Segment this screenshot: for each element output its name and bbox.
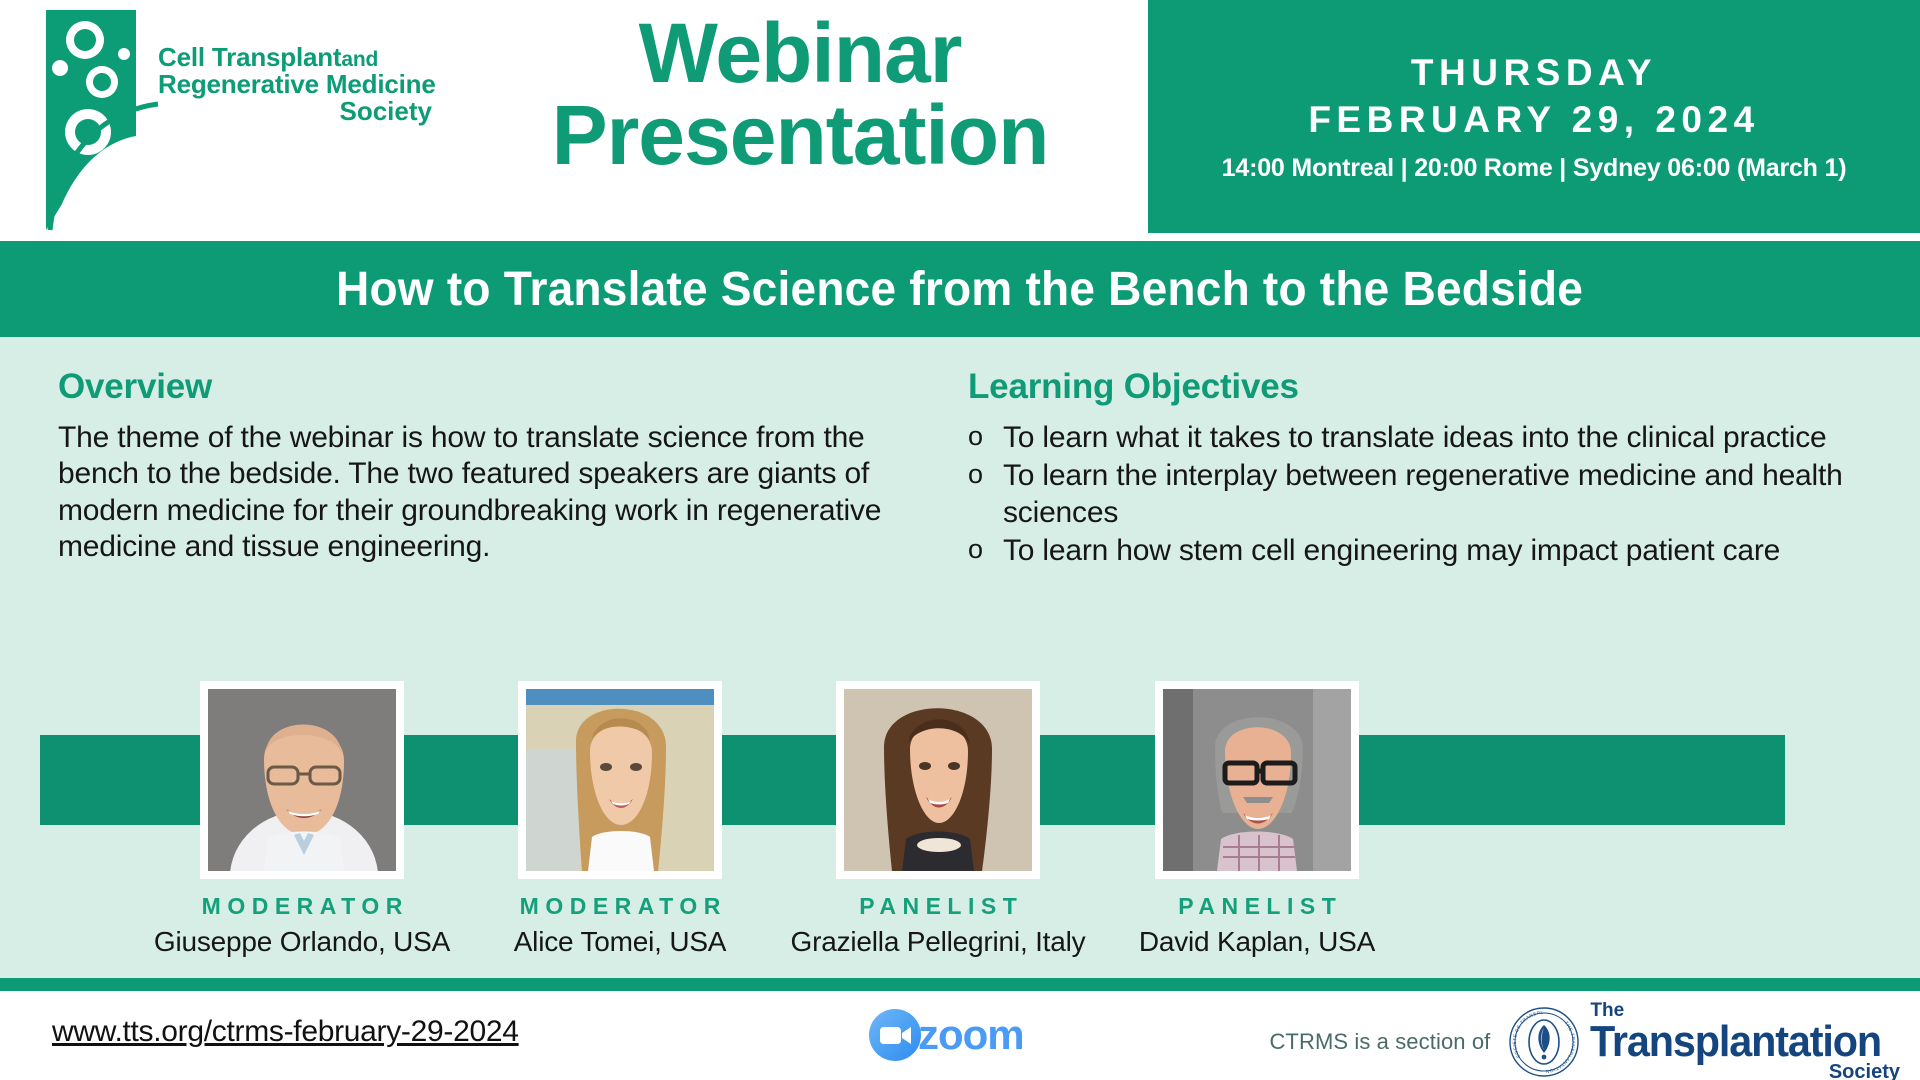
webinar-heading-line2: Presentation <box>470 94 1130 176</box>
content-section: Overview The theme of the webinar is how… <box>0 337 1920 978</box>
logo-line1-main: Cell Transplant <box>158 42 341 72</box>
speaker-name: David Kaplan, USA <box>1097 926 1417 958</box>
page-title: How to Translate Science from the Bench … <box>336 262 1583 317</box>
speaker-name: Graziella Pellegrini, Italy <box>778 926 1098 958</box>
speaker-role: MODERATOR <box>460 893 780 920</box>
tts-affiliation: CTRMS is a section of SOCIETE DE TRANSPL… <box>1269 1001 1900 1080</box>
registration-url[interactable]: www.tts.org/ctrms-february-29-2024 <box>52 1015 519 1049</box>
ctrms-cell-logo-icon <box>40 8 160 233</box>
date-block: THURSDAY FEBRUARY 29, 2024 14:00 Montrea… <box>1148 0 1920 233</box>
tts-main: Transplantation <box>1590 1020 1881 1064</box>
footer: www.tts.org/ctrms-february-29-2024 zoom … <box>0 991 1920 1080</box>
footer-divider <box>0 978 1920 991</box>
speaker-card: MODERATOR Alice Tomei, USA <box>460 681 780 958</box>
logo-line3: Society <box>158 98 478 125</box>
webinar-heading: Webinar Presentation <box>470 12 1130 177</box>
zoom-logo: zoom <box>868 1007 1068 1063</box>
ctrms-logo-text: Cell Transplantand Regenerative Medicine… <box>158 44 478 125</box>
title-banner: How to Translate Science from the Bench … <box>0 241 1920 337</box>
photo-graziella-pellegrini <box>844 689 1032 871</box>
logo-line1-small: and <box>341 48 378 71</box>
speaker-role: PANELIST <box>778 893 1098 920</box>
header: Cell Transplantand Regenerative Medicine… <box>0 0 1920 233</box>
logo-line2: Regenerative Medicine <box>158 71 478 98</box>
speaker-card: PANELIST David Kaplan, USA <box>1097 681 1417 958</box>
date-timezones: 14:00 Montreal | 20:00 Rome | Sydney 06:… <box>1222 154 1847 183</box>
webinar-flyer: Cell Transplantand Regenerative Medicine… <box>0 0 1920 1080</box>
tts-seal-icon: SOCIETE DE TRANSPLANTATION THE TRANSPLAN… <box>1508 1006 1580 1078</box>
photo-giuseppe-orlando <box>208 689 396 871</box>
date-full: FEBRUARY 29, 2024 <box>1308 97 1759 143</box>
transplantation-society-logo: SOCIETE DE TRANSPLANTATION THE TRANSPLAN… <box>1508 1001 1900 1080</box>
speaker-photo-frame <box>518 681 722 879</box>
tts-wordmark: The Transplantation Society <box>1590 1001 1900 1080</box>
speaker-name: Alice Tomei, USA <box>460 926 780 958</box>
speaker-photo-frame <box>1155 681 1359 879</box>
webinar-heading-line1: Webinar <box>470 12 1130 94</box>
speaker-photo-frame <box>200 681 404 879</box>
date-day-of-week: THURSDAY <box>1411 50 1657 96</box>
speakers-row: MODERATOR Giuseppe Orlando, USA <box>0 337 1920 978</box>
photo-david-kaplan <box>1163 689 1351 871</box>
speaker-role: PANELIST <box>1097 893 1417 920</box>
speaker-card: PANELIST Graziella Pellegrini, Italy <box>778 681 1098 958</box>
speaker-role: MODERATOR <box>142 893 462 920</box>
speaker-photo-frame <box>836 681 1040 879</box>
photo-alice-tomei <box>526 689 714 871</box>
speaker-card: MODERATOR Giuseppe Orlando, USA <box>142 681 462 958</box>
zoom-wordmark: zoom <box>918 1011 1024 1059</box>
ctrms-logo: Cell Transplantand Regenerative Medicine… <box>40 8 470 233</box>
ctrms-section-note: CTRMS is a section of <box>1269 1029 1490 1055</box>
speaker-name: Giuseppe Orlando, USA <box>142 926 462 958</box>
zoom-camera-icon <box>868 1008 922 1062</box>
